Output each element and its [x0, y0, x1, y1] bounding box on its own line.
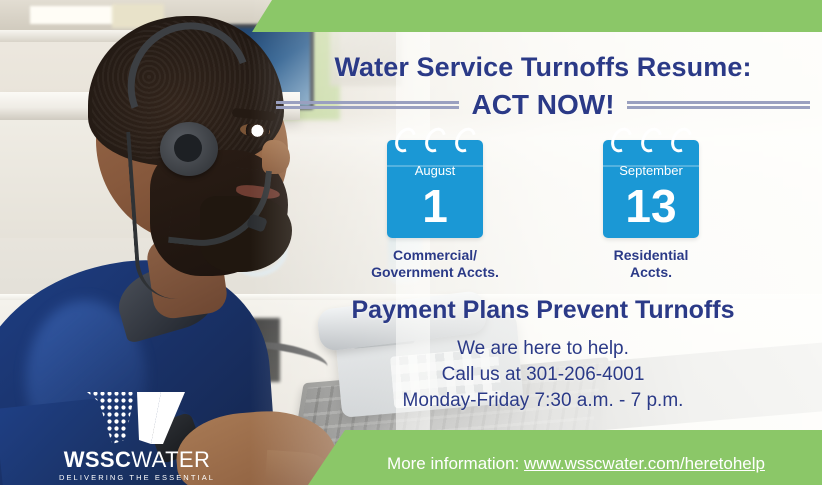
hours-line: Monday-Friday 7:30 a.m. - 7 p.m. [276, 388, 810, 414]
wssc-water-logo: WSSCWATER DELIVERING THE ESSENTIAL [52, 390, 222, 482]
calendar-residential: September 13 Residential Accts. [586, 140, 716, 280]
calendar-commercial: August 1 Commercial/ Government Accts. [370, 140, 500, 280]
calendar-divider [387, 165, 483, 167]
calendar-caption: Residential Accts. [586, 247, 716, 281]
page-title: Water Service Turnoffs Resume: [276, 52, 810, 83]
logo-name-light: WATER [131, 447, 210, 472]
calendar-group: August 1 Commercial/ Government Accts. S… [276, 140, 810, 280]
subheading: Payment Plans Prevent Turnoffs [276, 296, 810, 325]
calendar-caption-line2: Accts. [586, 264, 716, 281]
logo-wordmark: WSSCWATER DELIVERING THE ESSENTIAL [52, 448, 222, 482]
headset-earpiece-center [174, 134, 202, 162]
calendar-caption-line1: Residential [586, 247, 716, 264]
contact-block: We are here to help. Call us at 301-206-… [276, 336, 810, 414]
calendar-day-number: 13 [603, 180, 699, 238]
calendar-rings-icon [387, 127, 483, 149]
act-now-text: ACT NOW! [471, 89, 614, 121]
help-line: We are here to help. [276, 336, 810, 362]
calendar-icon-september: September 13 [603, 140, 699, 238]
rule-right [627, 101, 810, 109]
calendar-rings-icon [603, 127, 699, 149]
calendar-divider [603, 165, 699, 167]
logo-w-svg [85, 390, 189, 446]
website-link[interactable]: www.wsscwater.com/heretohelp [524, 454, 765, 473]
act-now-row: ACT NOW! [276, 88, 810, 122]
paper-stack [30, 6, 116, 24]
calendar-caption-line1: Commercial/ [370, 247, 500, 264]
calendar-caption-line2: Government Accts. [370, 264, 500, 281]
rule-left [276, 101, 459, 109]
calendar-icon-august: August 1 [387, 140, 483, 238]
logo-name-bold: WSSC [64, 447, 132, 472]
logo-name: WSSCWATER [52, 448, 222, 472]
wssc-w-mark-icon [85, 390, 189, 446]
poster: Water Service Turnoffs Resume: ACT NOW! … [0, 0, 822, 485]
phone-line: Call us at 301-206-4001 [276, 362, 810, 388]
calendar-caption: Commercial/ Government Accts. [370, 247, 500, 281]
more-information-label: More information: [387, 454, 524, 473]
footer-bar: More information: www.wsscwater.com/here… [330, 454, 822, 474]
calendar-day-number: 1 [387, 180, 483, 238]
logo-tagline: DELIVERING THE ESSENTIAL [52, 473, 222, 482]
